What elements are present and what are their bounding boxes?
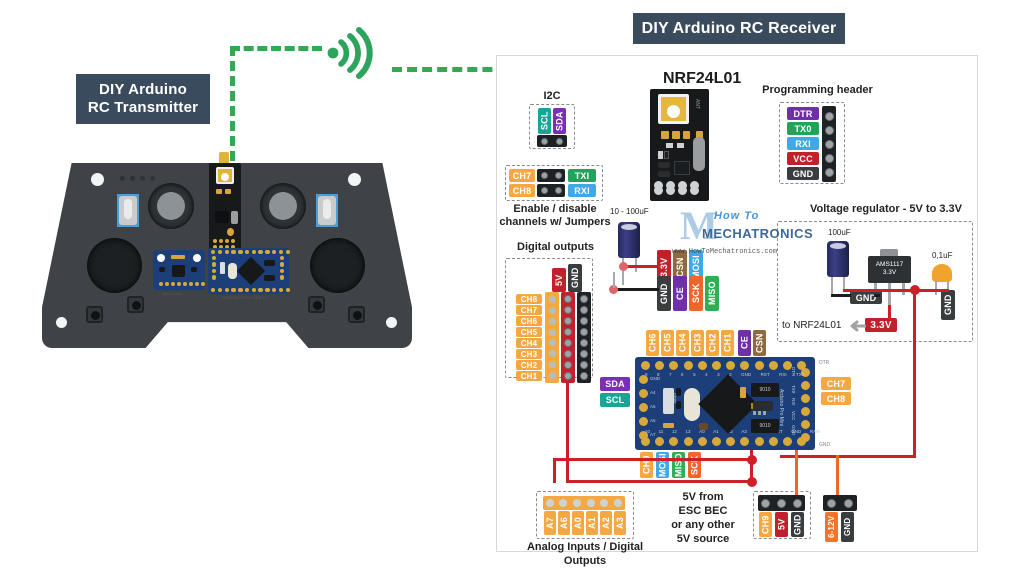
arrow-to-nrf-icon (846, 319, 866, 337)
regulator-voltage: 3.3V (868, 269, 911, 277)
silk-top: 9 (645, 372, 648, 377)
promini-top-label-ch6: CH6 (646, 330, 659, 356)
analog-inputs-header[interactable] (543, 496, 625, 510)
push-button (308, 296, 325, 313)
status-led (130, 176, 135, 181)
jumper-label-ch8: CH8 (509, 184, 535, 197)
analog-pin-a2: A2 (600, 511, 612, 535)
resistor-code: 9010 (759, 423, 770, 429)
wire-bottom-bus (566, 480, 752, 483)
prog-pin-vcc: VCC (787, 152, 819, 165)
silk-bottom: A3 (741, 429, 747, 434)
link-dash-horizontal-left (230, 46, 322, 51)
i2c-header[interactable] (537, 135, 567, 147)
tx-nrf-module (209, 163, 241, 250)
jumpers-caption-line1: Enable / disable (500, 203, 610, 217)
power-5v-caption-l2: ESC BEC (663, 505, 743, 519)
transmitter-title-banner: DIY Arduino RC Transmitter (76, 74, 210, 124)
silk-right: GND (791, 425, 796, 435)
mount-hole (348, 173, 361, 186)
junction-dot (619, 262, 628, 271)
programming-header-pins[interactable] (822, 106, 836, 182)
prog-pin-gnd: GND (787, 167, 819, 180)
silk-top: 6 (681, 372, 684, 377)
promini-bottom-label-mosi: MOSI (656, 452, 669, 478)
promini-left-label-scl: SCL (600, 393, 630, 407)
promini-left-label-sda: SDA (600, 377, 630, 391)
watermark-line2: MECHATRONICS (702, 226, 813, 241)
silk-right: DTR (791, 367, 796, 376)
promini-corner-silk-dtr: DTR (819, 360, 829, 366)
joystick-left (87, 238, 142, 293)
silk-left: A7 (650, 432, 660, 437)
capacitor-leg (935, 281, 937, 295)
toggle-switch-right (316, 194, 338, 227)
transmitter-title-line2: RC Transmitter (82, 99, 204, 117)
silk-left: A6 (650, 418, 660, 423)
power-5v-pin-5v: 5V (775, 512, 788, 537)
status-led (140, 176, 145, 181)
digital-ch-label: CH8 (516, 294, 542, 304)
nrf-pin-sck: SCK (689, 276, 703, 311)
power-5v-header[interactable] (758, 495, 805, 511)
promini-top-label-ch5: CH5 (661, 330, 674, 356)
prog-pin-tx0: TX0 (787, 122, 819, 135)
reg-output-capacitor (932, 264, 952, 282)
capacitor-leg (613, 272, 615, 288)
watermark-url: www.HowToMechatronics.com (672, 248, 777, 256)
wire-gnd-cap (613, 288, 659, 291)
analog-pin-a1: A1 (586, 511, 598, 535)
wire-right-rail (913, 340, 916, 458)
status-led (150, 176, 155, 181)
power-main-pin-6-12v: 6-12V (825, 512, 838, 542)
digital-ch-label: CH4 (516, 338, 542, 348)
analog-pin-a0: A0 (572, 511, 584, 535)
jumper-header-row1[interactable] (537, 169, 565, 182)
promini-top-label-ce: CE (738, 330, 751, 356)
link-dash-vertical (230, 46, 235, 161)
rotary-knob-right (260, 183, 306, 229)
analog-pin-a7: A7 (544, 511, 556, 535)
wire-power-orange (795, 450, 798, 495)
capacitor-leg (843, 277, 845, 289)
regulator-name: AMS1117 (868, 261, 911, 269)
programming-header-label: Programming header (750, 84, 885, 98)
rotary-knob-left (148, 183, 194, 229)
watermark: M How To MECHATRONICS www.HowToMechatron… (672, 204, 832, 266)
nrf-capacitor-label: 10 - 100uF (610, 207, 649, 216)
silk-top: RXI (779, 372, 787, 377)
silk-top: 5 (693, 372, 696, 377)
digital-header-signal[interactable] (545, 292, 559, 383)
silk-right: TX0 (791, 385, 796, 393)
promini-right-label-ch8: CH8 (821, 392, 851, 405)
i2c-pin-sda: SDA (553, 108, 566, 134)
nrf24l01-module: ANT (650, 89, 709, 201)
digital-ch-label: CH5 (516, 327, 542, 337)
i2c-label: I2C (532, 90, 572, 104)
mount-hole (91, 173, 104, 186)
regulator-gnd-label: GND (850, 291, 882, 304)
silk-left: A5 (650, 404, 660, 409)
tx-mpu6050-silk: MPU6050 (163, 291, 182, 296)
digital-ch-label: CH7 (516, 305, 542, 315)
digital-ch-label: CH1 (516, 371, 542, 381)
wire-left-bus-h (553, 458, 753, 461)
junction-dot (747, 477, 757, 487)
nrf-capacitor (618, 222, 640, 258)
power-5v-pin-gnd: GND (791, 512, 804, 537)
digital-header-5v[interactable] (561, 292, 575, 383)
silk-bottom: RAW (810, 429, 820, 434)
jumper-label-ch7: CH7 (509, 169, 535, 182)
prog-pin-rxi: RXI (787, 137, 819, 150)
analog-pin-a3: A3 (614, 511, 626, 535)
mount-hole (56, 317, 67, 328)
silk-top: GND (741, 372, 751, 377)
silk-top: TX0 (796, 372, 804, 377)
power-5v-caption-l1: 5V from (663, 491, 743, 505)
promini-right-label-ch7: CH7 (821, 377, 851, 390)
wire-3v3-down (913, 289, 916, 344)
digital-col-5v: 5V (552, 268, 566, 292)
power-main-header[interactable] (823, 495, 857, 511)
wire-reg-gnd (831, 294, 851, 297)
status-led (120, 176, 125, 181)
i2c-pin-scl: SCL (538, 108, 551, 134)
promini-top-label-ch2: CH2 (706, 330, 719, 356)
tx-pro-mini-board: ARDUINO PRO MINI 5V (208, 248, 289, 294)
analog-pin-a6: A6 (558, 511, 570, 535)
silk-bottom: 13 (685, 429, 690, 434)
reg-output-cap-label: 0,1uF (932, 251, 952, 260)
silk-top: 3 (717, 372, 720, 377)
jumper-header-row2[interactable] (537, 184, 565, 197)
wire-left-bus (553, 458, 556, 483)
wire-power-orange-2 (836, 455, 839, 497)
promini-bottom-label-miso: MISO (672, 452, 685, 478)
push-button (348, 306, 365, 323)
silk-right: RXI (791, 398, 796, 406)
mount-hole (386, 317, 397, 328)
silk-right: VCC (791, 411, 796, 421)
power-5v-pin-ch9: CH9 (759, 512, 772, 537)
promini-bottom-label-ch9: CH9 (640, 452, 653, 478)
wire-digital-down (566, 383, 569, 483)
analog-inputs-label: Analog Inputs / Digital Outputs (505, 541, 665, 569)
tx-pro-mini-silk: ARDUINO PRO MINI 5V (222, 295, 268, 300)
nrf-pin-ce: CE (673, 276, 687, 311)
digital-ch-label: CH6 (516, 316, 542, 326)
toggle-switch-left (117, 194, 139, 227)
power-main-pin-gnd: GND (841, 512, 854, 542)
silk-left: A4 (650, 390, 660, 395)
output-cap-gnd-label: GND (941, 290, 955, 320)
junction-dot (747, 455, 757, 465)
transmitter-title-line1: DIY Arduino (82, 81, 204, 99)
push-button (86, 306, 103, 323)
nrf-pin-miso: MISO (705, 276, 719, 311)
promini-top-label-ch3: CH3 (691, 330, 704, 356)
watermark-line1: How To (714, 210, 759, 222)
nrf-module-label: NRF24L01 (663, 70, 741, 88)
silk-top: 7 (669, 372, 672, 377)
silk-left: GND (650, 376, 660, 381)
silk-bottom: A1 (713, 429, 719, 434)
silk-bottom: 12 (672, 429, 677, 434)
tx-mpu6050-board: MPU6050 (153, 250, 205, 290)
diagram-canvas: DIY Arduino RC Transmitter (0, 0, 1024, 576)
wifi-signal-icon (322, 24, 380, 82)
regulator-leg (888, 283, 891, 305)
digital-ch-label: CH3 (516, 349, 542, 359)
digital-outputs-label: Digital outputs (498, 241, 613, 255)
receiver-title-banner: DIY Arduino RC Receiver (633, 13, 845, 44)
digital-ch-label: CH2 (516, 360, 542, 370)
promini-top-label-ch1: CH1 (721, 330, 734, 356)
jumper-label-txi: TXI (568, 169, 596, 182)
promini-top-label-csn: CSN (753, 330, 766, 356)
wire-3v3-cap (623, 265, 659, 268)
wire-reg-gnd2 (874, 294, 880, 297)
push-button (127, 296, 144, 313)
joystick-right (310, 238, 365, 293)
power-5v-caption-l4: 5V source (663, 533, 743, 547)
jumpers-caption-line2: channels w/ Jumpers (495, 216, 615, 230)
silk-top: 4 (705, 372, 708, 377)
regulator-output-label: 3.3V (865, 318, 897, 332)
wire-3v3-out (843, 289, 949, 292)
ams1117-regulator: AMS1117 3.3V (868, 256, 911, 283)
nrf-header-bottom[interactable] (654, 186, 699, 195)
digital-col-gnd: GND (568, 264, 582, 292)
resistor-code: 9010 (759, 387, 770, 393)
receiver-pro-mini-board: 9 8 7 6 5 4 3 2 GND RST RXI TX0 10 11 12… (635, 357, 815, 450)
power-5v-caption-l3: or any other (658, 519, 748, 533)
prog-pin-dtr: DTR (787, 107, 819, 120)
jumper-label-rxi: RXI (568, 184, 596, 197)
wire-3v3-branch (888, 305, 891, 320)
promini-corner-silk-gnd: GND (819, 442, 830, 448)
wire-right-rail-h (780, 455, 916, 458)
digital-header-gnd[interactable] (577, 292, 591, 383)
silk-top: RST (761, 372, 770, 377)
nrf-pin-gnd: GND (657, 276, 671, 311)
promini-bottom-label-sck: SCK (688, 452, 701, 478)
promini-top-label-ch4: CH4 (676, 330, 689, 356)
